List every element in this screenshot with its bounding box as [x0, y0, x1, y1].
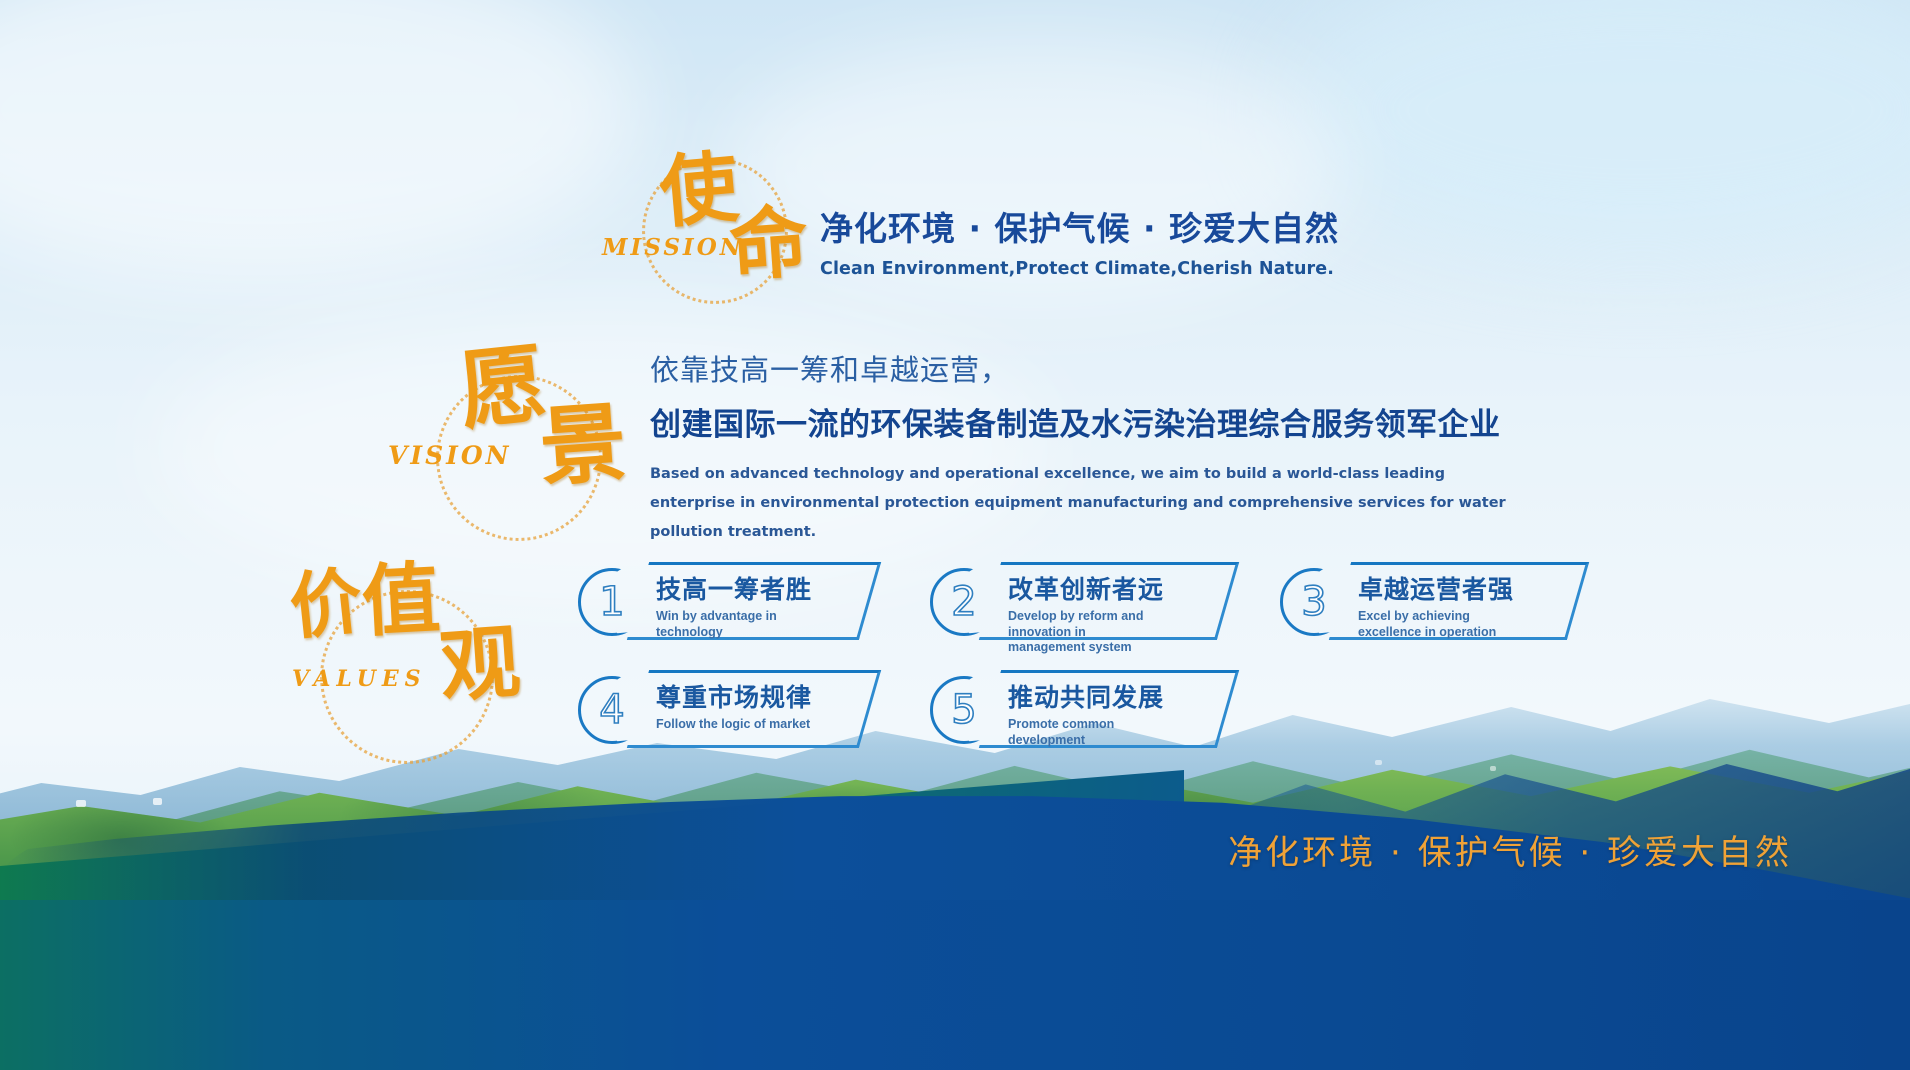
sky-haze-left — [0, 0, 640, 280]
corporate-culture-poster: 使 命 MISSION 净化环境 · 保护气候 · 珍爱大自然 Clean En… — [0, 0, 1910, 1070]
vision-calligraphy-char-2: 景 — [537, 400, 629, 492]
value-title-en: Follow the logic of market — [656, 717, 812, 733]
value-text-group: 推动共同发展 Promote common development — [1008, 678, 1164, 748]
vision-label-en: VISION — [388, 441, 511, 470]
values-card-list: 1 技高一筹者胜 Win by advantage in technology … — [578, 568, 1908, 758]
village-house — [1375, 760, 1382, 765]
value-title-cn: 推动共同发展 — [1008, 678, 1164, 714]
mission-headline-cn: 净化环境 · 保护气候 · 珍爱大自然 — [820, 202, 1339, 250]
vision-section: 愿 景 VISION 依靠技高一筹和卓越运营， 创建国际一流的环保装备制造及水污… — [418, 345, 978, 525]
footer-slogan: 净化环境 · 保护气候 · 珍爱大自然 — [1228, 825, 1792, 874]
vision-paragraph-en: Based on advanced technology and operati… — [650, 460, 1530, 547]
village-house — [76, 800, 86, 807]
village-house — [1490, 766, 1496, 771]
mission-label-en: MISSION — [602, 234, 744, 261]
values-calligraphy-char-3: 观 — [437, 621, 522, 706]
village-house — [153, 798, 162, 805]
values-label-en: VALUES — [292, 666, 427, 692]
vision-calligraphy-char-1: 愿 — [456, 341, 551, 436]
sky-haze-right — [1290, 0, 1910, 260]
vision-text-group: 依靠技高一筹和卓越运营， 创建国际一流的环保装备制造及水污染治理综合服务领军企业… — [650, 347, 1650, 547]
vision-line-1: 依靠技高一筹和卓越运营， — [650, 347, 1650, 389]
value-text-group: 改革创新者远 Develop by reform and innovation … — [1008, 570, 1164, 656]
mission-text-group: 净化环境 · 保护气候 · 珍爱大自然 Clean Environment,Pr… — [820, 202, 1339, 279]
values-calligraphy-char-1: 价 — [286, 564, 365, 643]
value-title-en: Develop by reform and innovation in mana… — [1008, 609, 1164, 656]
value-title-en: Promote common development — [1008, 717, 1164, 748]
value-title-cn: 技高一筹者胜 — [656, 570, 812, 606]
value-title-cn: 改革创新者远 — [1008, 570, 1164, 606]
blue-footer-band — [0, 900, 1910, 1070]
vision-line-2: 创建国际一流的环保装备制造及水污染治理综合服务领军企业 — [650, 399, 1650, 444]
value-title-cn: 尊重市场规律 — [656, 678, 812, 714]
value-title-en: Excel by achieving excellence in operati… — [1358, 609, 1514, 640]
value-title-cn: 卓越运营者强 — [1358, 570, 1514, 606]
mission-headline-en: Clean Environment,Protect Climate,Cheris… — [820, 259, 1339, 279]
values-calligraphy-char-2: 值 — [360, 560, 442, 642]
value-text-group: 尊重市场规律 Follow the logic of market — [656, 678, 812, 733]
value-text-group: 技高一筹者胜 Win by advantage in technology — [656, 570, 812, 640]
value-title-en: Win by advantage in technology — [656, 609, 812, 640]
value-text-group: 卓越运营者强 Excel by achieving excellence in … — [1358, 570, 1514, 640]
mission-section: 使 命 MISSION 净化环境 · 保护气候 · 珍爱大自然 Clean En… — [612, 150, 1172, 290]
